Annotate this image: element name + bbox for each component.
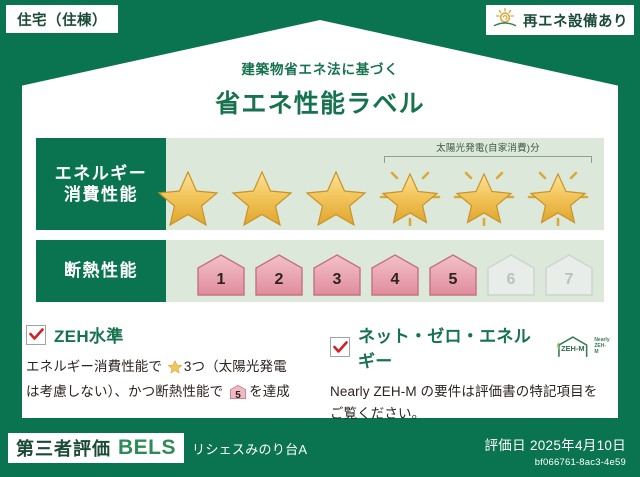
energy-performance-label-block: エネルギー 消費性能 xyxy=(36,138,166,230)
zeh-m-sub-line2: ZEH-M xyxy=(594,343,606,355)
star-rating-strip xyxy=(166,164,598,226)
insulation-performance-row: 断熱性能 1 2 xyxy=(36,240,604,302)
net-zero-criteria-header: ネット・ゼロ・エネルギー ZEH-M Nearly ZEH-M xyxy=(330,322,610,372)
zeh-description: エネルギー消費性能で 3つ（太陽光発電 は考慮しない）、かつ断熱性能で 5 を達… xyxy=(26,356,306,407)
evaluation-date-label: 評価日 xyxy=(484,438,525,453)
heading-main-title: 省エネ性能ラベル xyxy=(0,84,640,120)
solar-bracket-label: 太陽光発電(自家消費)分 xyxy=(384,140,592,154)
sun-solar-icon xyxy=(492,7,518,33)
grade-value: 4 xyxy=(368,271,422,289)
svg-text:ZEH-M: ZEH-M xyxy=(561,344,584,353)
heading-subtitle: 建築物省エネ法に基づく xyxy=(0,58,640,78)
zeh-criteria-header: ZEH水準 xyxy=(26,322,306,347)
evaluation-id: bf066761-8ac3-4e59 xyxy=(484,457,626,468)
star-solar-icon xyxy=(450,164,518,226)
insulation-grade-strip: 1 2 3 4 xyxy=(166,251,596,299)
zeh-m-logo-subtext: Nearly ZEH-M xyxy=(594,338,610,355)
grade-value: 7 xyxy=(542,271,596,289)
energy-rating-area: 太陽光発電(自家消費)分 xyxy=(166,138,604,230)
insulation-grade-house: 1 xyxy=(194,251,248,299)
insulation-label-line1: 断熱性能 xyxy=(64,260,138,281)
inline-grade-house-icon: 5 xyxy=(229,384,247,407)
zeh-checkbox[interactable] xyxy=(26,325,46,345)
energy-performance-label: 住宅（住棟） 再エネ設備あり 建築物省エネ法に基づく 省エネ性能ラベル xyxy=(0,0,640,477)
zeh-text-part1: エネルギー消費性能で xyxy=(26,359,162,374)
inline-grade-value: 5 xyxy=(229,388,247,404)
energy-label-line2: 消費性能 xyxy=(64,184,138,205)
net-zero-checkbox[interactable] xyxy=(330,337,350,357)
insulation-grade-house: 7 xyxy=(542,251,596,299)
zeh-m-logo: ZEH-M Nearly ZEH-M xyxy=(553,335,610,359)
footer-right-group: 評価日 2025年4月10日 bf066761-8ac3-4e59 xyxy=(484,434,626,468)
net-zero-criteria-block: ネット・ゼロ・エネルギー ZEH-M Nearly ZEH-M Nearly Z… xyxy=(330,322,610,425)
star-icon xyxy=(228,164,296,226)
insulation-grade-house: 3 xyxy=(310,251,364,299)
energy-label-line1: エネルギー xyxy=(55,163,148,184)
insulation-grade-house: 6 xyxy=(484,251,538,299)
energy-performance-row: エネルギー 消費性能 太陽光発電(自家消費)分 xyxy=(36,138,604,230)
insulation-grade-area: 1 2 3 4 xyxy=(166,240,604,302)
insulation-grade-house: 5 xyxy=(426,251,480,299)
evaluation-date-value: 2025年4月10日 xyxy=(530,438,626,453)
footer-left-group: 第三者評価 BELS リシェスみのり台A xyxy=(8,433,307,463)
solar-bracket-line xyxy=(384,156,592,163)
star-icon xyxy=(302,164,370,226)
grade-value: 1 xyxy=(194,271,248,289)
star-solar-icon xyxy=(524,164,592,226)
net-zero-description: Nearly ZEH-M の要件は評価書の特記項目をご覧ください。 xyxy=(330,381,610,425)
grade-value: 2 xyxy=(252,271,306,289)
net-zero-title: ネット・ゼロ・エネルギー xyxy=(358,322,541,372)
evaluation-date: 評価日 2025年4月10日 xyxy=(484,434,626,454)
grade-value: 3 xyxy=(310,271,364,289)
zeh-star-count-text: 3つ（太陽光発電 xyxy=(184,359,287,374)
footer: 第三者評価 BELS リシェスみのり台A 評価日 2025年4月10日 bf06… xyxy=(0,425,640,477)
bels-logo-text: BELS xyxy=(118,436,176,460)
insulation-performance-label-block: 断熱性能 xyxy=(36,240,166,302)
zeh-criteria-block: ZEH水準 エネルギー消費性能で 3つ（太陽光発電 は考慮しない）、かつ断熱性能… xyxy=(26,322,306,407)
insulation-grade-house: 4 xyxy=(368,251,422,299)
zeh-text-part3: を達成 xyxy=(249,384,290,399)
third-party-evaluation-label: 第三者評価 xyxy=(16,435,111,461)
inline-star-icon xyxy=(167,358,183,381)
building-type-label: 住宅（住棟） xyxy=(17,9,107,30)
star-solar-icon xyxy=(376,164,444,226)
renewable-label: 再エネ設備あり xyxy=(523,10,628,31)
bels-plate: 第三者評価 BELS xyxy=(8,433,184,463)
building-type-tag: 住宅（住棟） xyxy=(6,5,118,33)
insulation-grade-house: 2 xyxy=(252,251,306,299)
grade-value: 6 xyxy=(484,271,538,289)
star-icon xyxy=(154,164,222,226)
solar-bracket-annotation: 太陽光発電(自家消費)分 xyxy=(384,140,592,163)
zeh-text-part2: は考慮しない）、かつ断熱性能で xyxy=(26,384,223,399)
renewable-equipment-badge: 再エネ設備あり xyxy=(486,5,634,35)
grade-value: 5 xyxy=(426,271,480,289)
property-name: リシェスみのり台A xyxy=(192,439,307,458)
page-title: 建築物省エネ法に基づく 省エネ性能ラベル xyxy=(0,58,640,120)
zeh-title: ZEH水準 xyxy=(54,322,124,347)
